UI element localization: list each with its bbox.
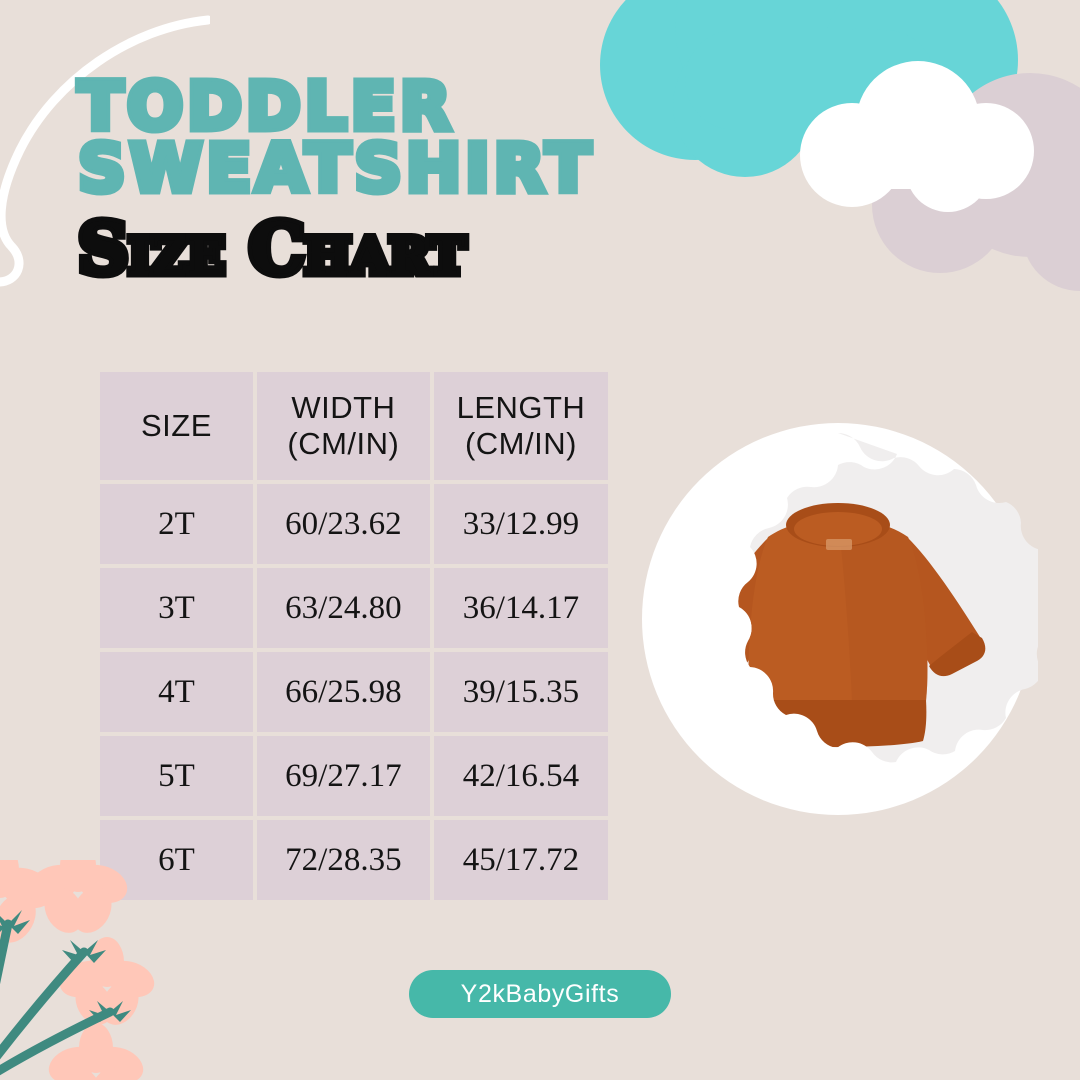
cell-size: 5T [100, 736, 253, 816]
header-length-sub: (CM/IN) [434, 426, 608, 462]
table-header-row: SIZE WIDTH (CM/IN) LENGTH (CM/IN) [100, 372, 608, 480]
neck-label-icon [826, 539, 852, 550]
table-row: 3T 63/24.80 36/14.17 [100, 568, 608, 648]
cell-width: 72/28.35 [257, 820, 430, 900]
table-row: 4T 66/25.98 39/15.35 [100, 652, 608, 732]
table-row: 6T 72/28.35 45/17.72 [100, 820, 608, 900]
cell-size: 2T [100, 484, 253, 564]
cell-width: 66/25.98 [257, 652, 430, 732]
header-cell-width: WIDTH (CM/IN) [257, 372, 430, 480]
brand-badge-label: Y2kBabyGifts [461, 980, 620, 1009]
cell-length: 33/12.99 [434, 484, 608, 564]
cell-size: 6T [100, 820, 253, 900]
title-line-3: Size Chart [78, 214, 778, 284]
header-cell-length: LENGTH (CM/IN) [434, 372, 608, 480]
cell-width: 60/23.62 [257, 484, 430, 564]
sweatshirt-image [638, 419, 1038, 819]
brand-badge[interactable]: Y2kBabyGifts [409, 970, 671, 1018]
title-line-1: TODDLER [78, 76, 778, 138]
title-line-2: SWEATSHIRT [78, 138, 778, 200]
cell-length: 42/16.54 [434, 736, 608, 816]
header-length-top: LENGTH [434, 390, 608, 426]
cell-size: 3T [100, 568, 253, 648]
header-cell-size: SIZE [100, 372, 253, 480]
table-row: 5T 69/27.17 42/16.54 [100, 736, 608, 816]
cell-length: 39/15.35 [434, 652, 608, 732]
cell-size: 4T [100, 652, 253, 732]
product-photo [638, 419, 1038, 819]
header-width-top: WIDTH [257, 390, 430, 426]
size-chart-poster: TODDLER SWEATSHIRT Size Chart SIZE WIDTH… [0, 0, 1080, 1080]
size-chart-table: SIZE WIDTH (CM/IN) LENGTH (CM/IN) 2T 60/… [96, 368, 612, 904]
header-width-sub: (CM/IN) [257, 426, 430, 462]
cloud-icon-lilac [865, 55, 1080, 295]
cell-length: 36/14.17 [434, 568, 608, 648]
table-row: 2T 60/23.62 33/12.99 [100, 484, 608, 564]
cloud-icon-white [790, 55, 1070, 215]
cell-width: 69/27.17 [257, 736, 430, 816]
heading-block: TODDLER SWEATSHIRT Size Chart [78, 76, 778, 284]
cell-length: 45/17.72 [434, 820, 608, 900]
cell-width: 63/24.80 [257, 568, 430, 648]
